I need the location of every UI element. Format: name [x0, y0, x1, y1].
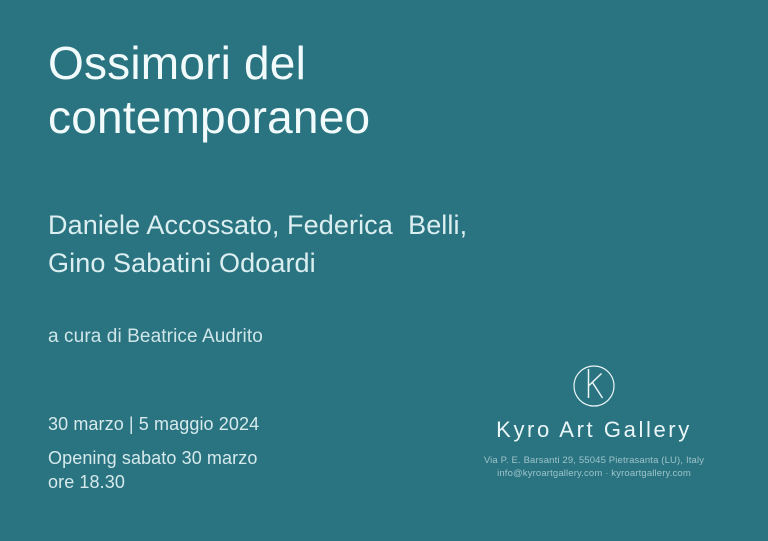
page-title: Ossimori del contemporaneo — [48, 36, 588, 144]
date-range: 30 marzo | 5 maggio 2024 — [48, 412, 348, 436]
artists-line-1: Daniele Accossato, Federica Belli, — [48, 206, 668, 244]
exhibition-poster: Ossimori del contemporaneo Daniele Accos… — [0, 0, 768, 541]
artists-list: Daniele Accossato, Federica Belli, Gino … — [48, 206, 668, 282]
curator-credit: a cura di Beatrice Audrito — [48, 324, 263, 350]
gallery-address: Via P. E. Barsanti 29, 55045 Pietrasanta… — [440, 454, 748, 467]
artists-line-2: Gino Sabatini Odoardi — [48, 244, 668, 282]
opening-line-2: ore 18.30 — [48, 470, 348, 494]
gallery-identity: Kyro Art Gallery Via P. E. Barsanti 29, … — [440, 360, 748, 480]
circle-k-monogram-icon — [569, 360, 619, 410]
gallery-name: Kyro Art Gallery — [440, 416, 748, 444]
gallery-contact: info@kyroartgallery.com · kyroartgallery… — [440, 467, 748, 480]
title-line-1: Ossimori del — [48, 36, 588, 90]
opening-line-1: Opening sabato 30 marzo — [48, 446, 348, 470]
title-line-2: contemporaneo — [48, 90, 588, 144]
exhibition-dates: 30 marzo | 5 maggio 2024 Opening sabato … — [48, 412, 348, 494]
